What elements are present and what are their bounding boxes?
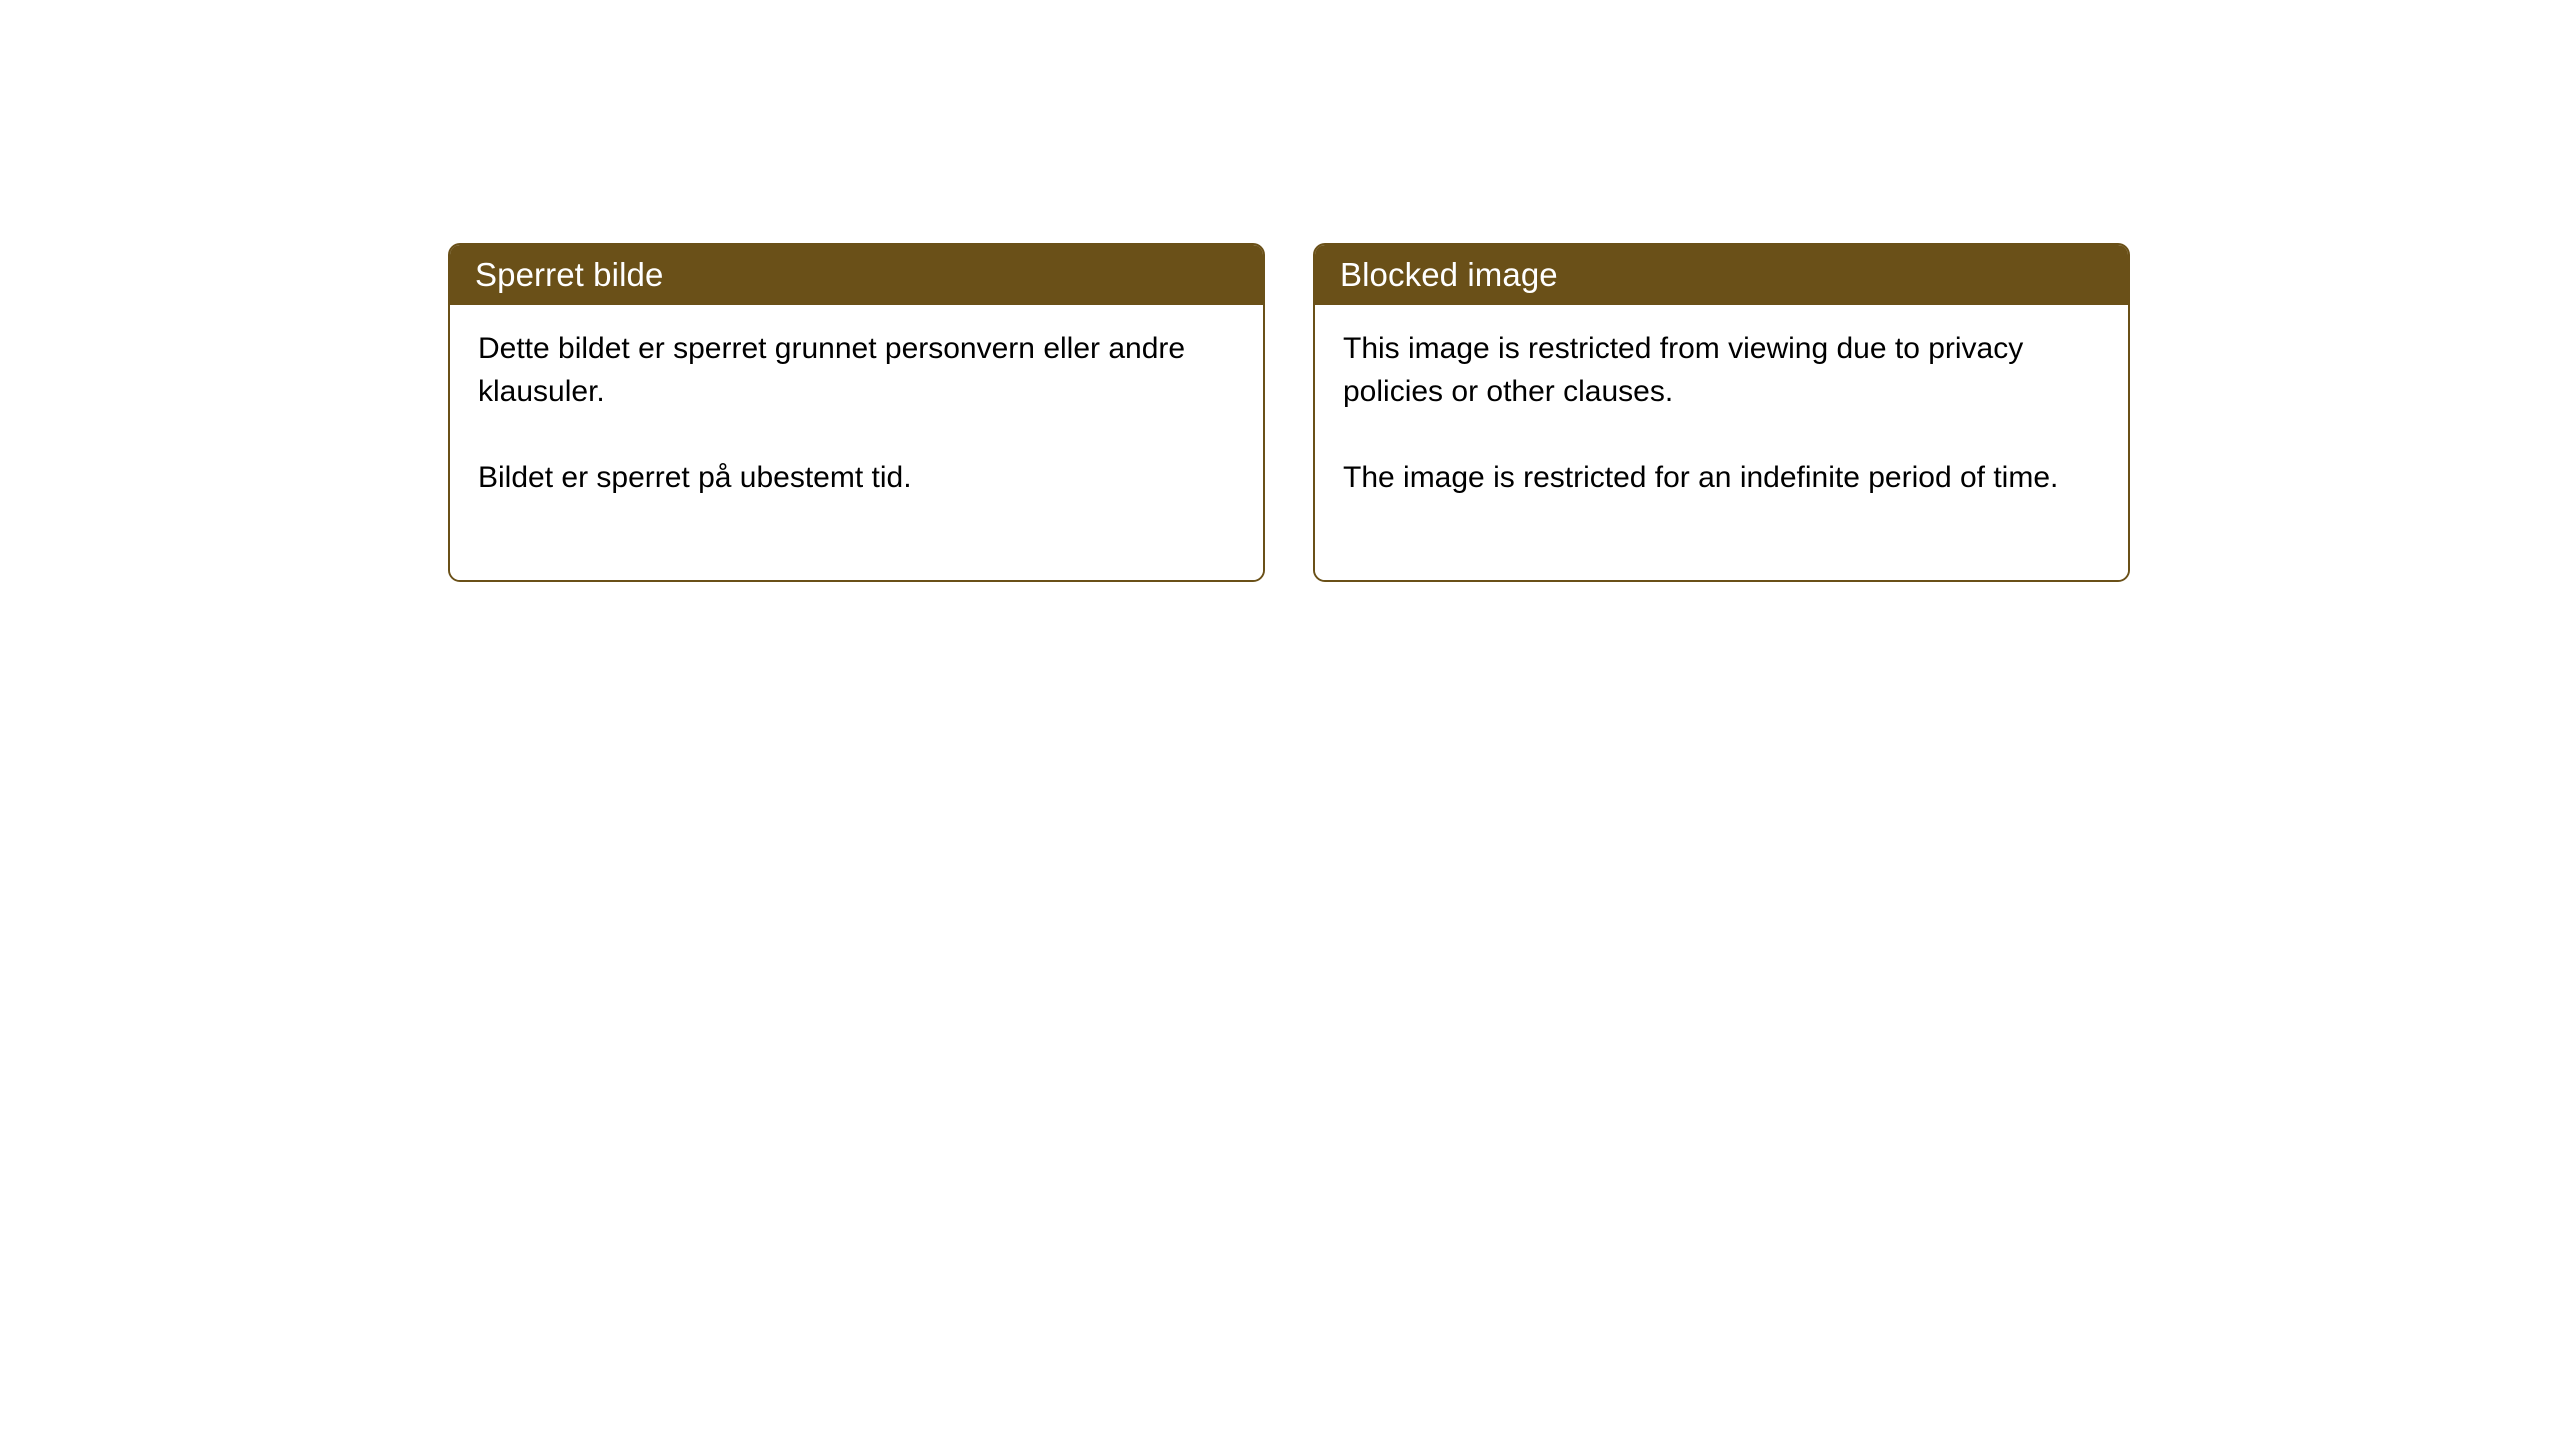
card-title-norwegian: Sperret bilde: [475, 256, 663, 294]
card-header-norwegian: Sperret bilde: [450, 245, 1263, 305]
card-body-english: This image is restricted from viewing du…: [1315, 305, 2128, 580]
card-body-norwegian: Dette bildet er sperret grunnet personve…: [450, 305, 1263, 580]
card-paragraph-secondary-english: The image is restricted for an indefinit…: [1343, 456, 2083, 499]
card-paragraph-primary-english: This image is restricted from viewing du…: [1343, 327, 2083, 413]
blocked-image-card-english: Blocked image This image is restricted f…: [1313, 243, 2130, 582]
card-header-english: Blocked image: [1315, 245, 2128, 305]
card-paragraph-secondary-norwegian: Bildet er sperret på ubestemt tid.: [478, 456, 1218, 499]
blocked-image-card-norwegian: Sperret bilde Dette bildet er sperret gr…: [448, 243, 1265, 582]
card-title-english: Blocked image: [1340, 256, 1558, 294]
card-paragraph-primary-norwegian: Dette bildet er sperret grunnet personve…: [478, 327, 1218, 413]
blocked-image-notices: Sperret bilde Dette bildet er sperret gr…: [448, 243, 2130, 582]
